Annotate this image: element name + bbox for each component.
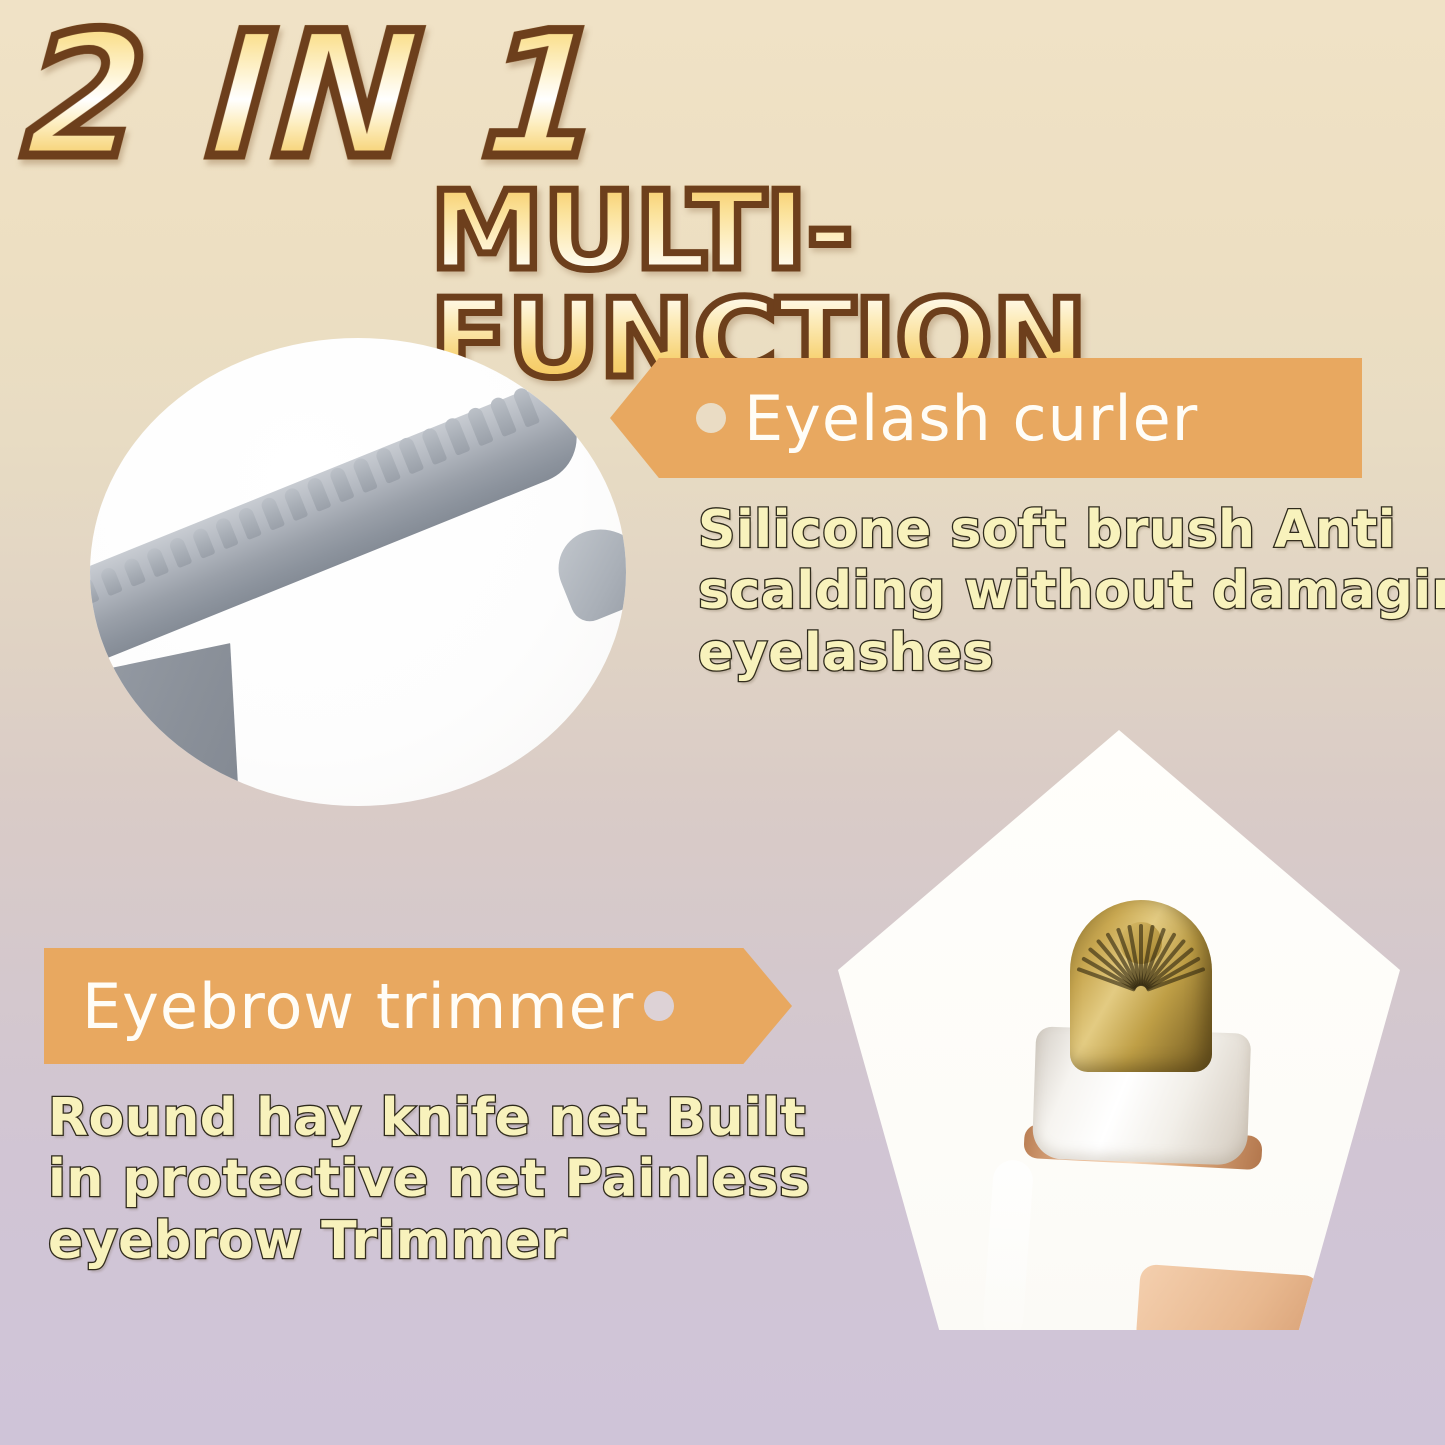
banner-eyebrow-trimmer[interactable]: Eyebrow trimmer <box>44 948 792 1064</box>
brush-tooth <box>237 506 262 540</box>
brush-tooth <box>305 476 331 512</box>
brush-tooth <box>259 496 285 531</box>
tag-hole-icon <box>696 403 726 433</box>
brush-tooth <box>145 546 169 578</box>
silicone-brush-tip <box>547 515 626 627</box>
brush-tooth <box>489 396 517 437</box>
brush-tooth <box>443 416 471 456</box>
brush-tooth <box>466 406 494 447</box>
brush-tooth <box>420 426 448 465</box>
description-eyebrow-trimmer: Round hay knife net Built in protective … <box>48 1088 784 1272</box>
brush-tooth <box>99 566 123 596</box>
description-line: eyebrow Trimmer <box>48 1211 784 1272</box>
brush-tooth <box>214 516 239 550</box>
brush-tooth <box>397 436 424 475</box>
trimmer-base-plate <box>1135 1264 1320 1330</box>
banner-label-eyebrow-trimmer: Eyebrow trimmer <box>82 970 634 1043</box>
description-line: eyelashes <box>698 623 1422 684</box>
brush-tooth <box>328 466 355 503</box>
brush-tooth <box>282 486 308 522</box>
banner-eyelash-curler[interactable]: Eyelash curler <box>610 358 1362 478</box>
trimmer-head-slots-icon <box>1070 906 1212 1074</box>
eyebrow-trimmer-product-photo <box>838 730 1400 1330</box>
description-line: Round hay knife net Built <box>48 1088 784 1149</box>
description-line: scalding without damaging <box>698 561 1422 622</box>
headline-2-in-1: 2 IN 1 <box>20 10 611 182</box>
eyelash-curler-product-photo <box>90 338 626 806</box>
brush-tooth <box>374 446 401 484</box>
tag-hole-icon <box>644 991 674 1021</box>
product-infographic-poster: 2 IN 1 MULTI-FUNCTION Eyelash curler Sil… <box>0 0 1445 1445</box>
description-line: in protective net Painless <box>48 1149 784 1210</box>
description-line: Silicone soft brush Anti <box>698 500 1422 561</box>
banner-label-eyelash-curler: Eyelash curler <box>744 382 1198 455</box>
headline-group: 2 IN 1 MULTI-FUNCTION <box>0 0 1445 300</box>
brush-tooth <box>122 556 146 587</box>
description-eyelash-curler: Silicone soft brush Anti scalding withou… <box>698 500 1422 684</box>
brush-tooth <box>191 526 216 559</box>
brush-tooth <box>351 456 378 494</box>
brush-tooth <box>168 536 193 568</box>
brush-tooth <box>512 386 541 428</box>
